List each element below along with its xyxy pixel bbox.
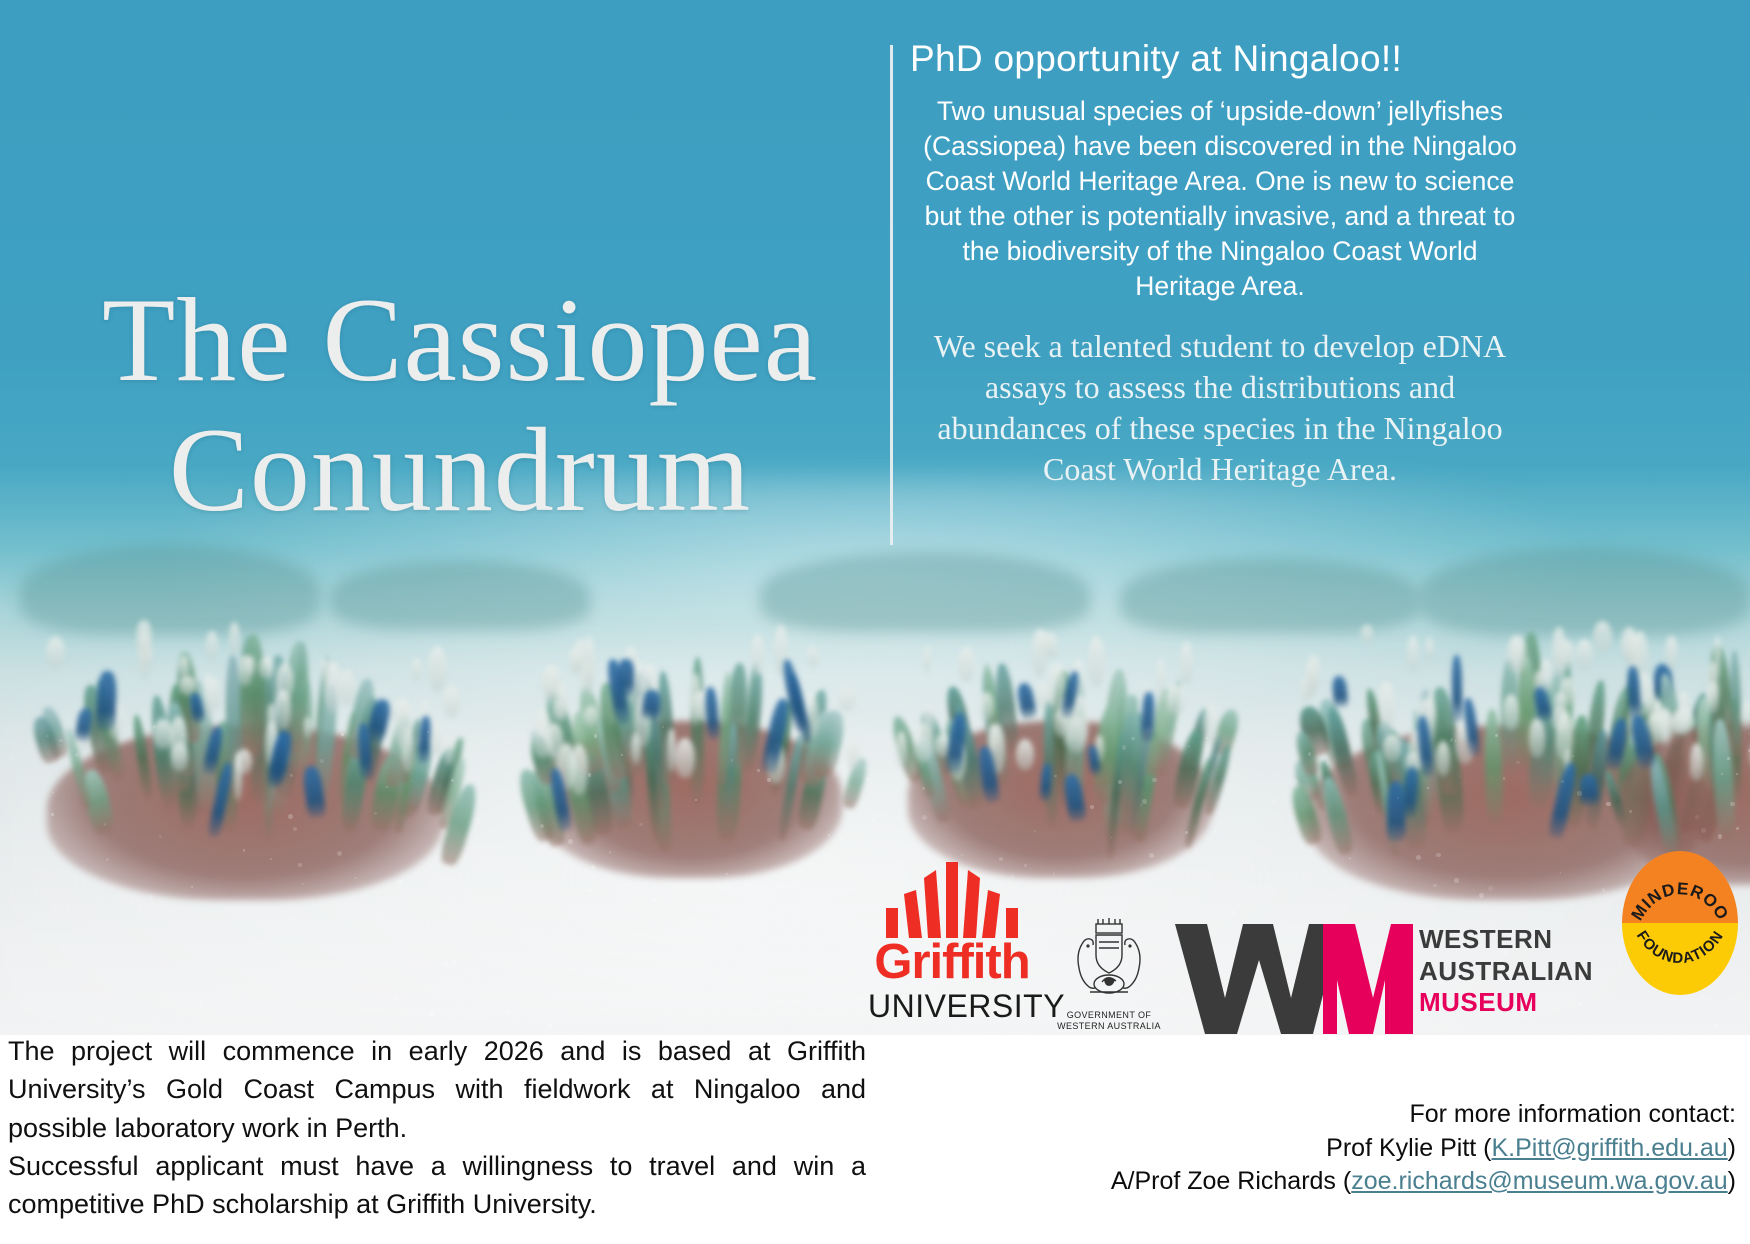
jellyfish-frill-tip (1576, 639, 1594, 670)
sand-fleck (1272, 799, 1276, 803)
sand-fleck (51, 813, 54, 816)
jellyfish-frill-tip (1556, 712, 1573, 761)
jellyfish-frill-tip (1552, 627, 1566, 676)
jellyfish-frill-tip (259, 657, 274, 679)
email-link-kylie-pitt[interactable]: K.Pitt@griffith.edu.au (1492, 1134, 1728, 1162)
sand-fleck (1206, 737, 1208, 739)
contact-block: For more information contact: Prof Kylie… (976, 1098, 1736, 1199)
jellyfish-frill-tip (206, 631, 218, 660)
poster-canvas: The Cassiopea Conundrum PhD opportunity … (0, 0, 1750, 1244)
sand-fleck (114, 938, 116, 940)
sand-fleck (1450, 738, 1453, 741)
project-line-5: competitive PhD scholarship at Griffith … (8, 1185, 866, 1223)
sand-fleck (52, 792, 54, 794)
sand-fleck (191, 886, 193, 888)
jellyfish-frill-tip (838, 687, 856, 711)
jellyfish-frill-tip (1361, 625, 1373, 644)
jellyfish-frill-tip (1690, 743, 1702, 781)
sand-fleck (1188, 746, 1189, 747)
sand-fleck (149, 895, 153, 899)
jellyfish-frill-tip (923, 646, 932, 672)
jellyfish-blue-arm (1141, 691, 1156, 741)
jellyfish-frill-tip (1503, 694, 1519, 731)
sand-fleck (1516, 761, 1519, 764)
sand-fleck (509, 750, 511, 752)
jellyfish-frill-tip (1016, 739, 1034, 770)
vertical-divider (890, 45, 893, 545)
sand-fleck (501, 962, 505, 966)
jellyfish-frill-tip (1665, 636, 1677, 670)
jellyfish-frill-tip (1032, 629, 1046, 677)
sand-fleck (1327, 762, 1330, 765)
sand-fleck (1115, 858, 1116, 859)
jellyfish-frill-tip (1436, 741, 1450, 776)
sand-fleck (606, 887, 608, 889)
sand-fleck (288, 814, 293, 819)
jellyfish-frill-tip (430, 723, 442, 756)
opportunity-heading: PhD opportunity at Ningaloo!! (910, 38, 1530, 80)
jellyfish-frill-tip (1088, 636, 1106, 687)
logo-band: Griffith UNIVERSITY (868, 860, 1748, 1045)
opportunity-call-to-action: We seek a talented student to develop eD… (910, 326, 1530, 490)
wa-government-logo: GOVERNMENT OF WESTERN AUSTRALIA (1054, 918, 1164, 1043)
jellyfish-frill-tip (1507, 635, 1528, 674)
sand-fleck (1577, 791, 1581, 795)
contact-person-1-close: ) (1728, 1134, 1736, 1162)
sand-fleck (1118, 780, 1121, 783)
sand-fleck (609, 851, 611, 853)
sand-fleck (470, 991, 475, 996)
jellyfish-frill-tip (1742, 701, 1750, 729)
sand-fleck (1176, 724, 1178, 726)
jellyfish-frill-tip (1529, 718, 1545, 757)
jellyfish-frill-tip (1660, 711, 1672, 745)
jellyfish-blue-arm (642, 689, 661, 719)
sand-fleck (1149, 853, 1154, 858)
wam-line-1: WESTERN (1419, 924, 1603, 956)
sand-fleck (1140, 804, 1142, 806)
sand-fleck (1727, 757, 1730, 760)
sand-fleck (452, 960, 456, 964)
page-title: The Cassiopea Conundrum (40, 275, 880, 534)
jellyfish-tentacle (242, 634, 265, 754)
wam-wordmark: WESTERN AUSTRALIAN MUSEUM (1419, 924, 1603, 1019)
jellyfish-frill-tip (675, 738, 694, 779)
sand-fleck (470, 894, 472, 896)
jellyfish-frill-tip (1407, 636, 1418, 672)
project-line-2: University’s Gold Coast Campus with fiel… (8, 1070, 866, 1108)
jellyfish-frill-tip (170, 716, 187, 762)
jellyfish-blue-arm (1452, 655, 1463, 722)
sand-fleck (1718, 834, 1722, 838)
sand-fleck (371, 916, 373, 918)
sand-fleck (426, 970, 429, 973)
minderoo-foundation-logo: MINDEROO FOUNDATION (1620, 848, 1740, 998)
sand-fleck (1152, 778, 1157, 783)
jellyfish-frill-tip (533, 710, 552, 758)
sand-fleck (131, 901, 133, 903)
jellyfish-frill-tip (1180, 642, 1192, 684)
jellyfish-frill-tip (1203, 704, 1218, 744)
jellyfish-frill-tip (136, 620, 153, 655)
sand-fleck (540, 824, 544, 828)
jellyfish-cluster (1610, 605, 1750, 885)
sand-fleck (662, 726, 664, 728)
jellyfish-frill-tip (1157, 658, 1164, 703)
sand-fleck (153, 725, 156, 728)
jellyfish-frill-tip (1167, 685, 1185, 715)
sand-fleck (594, 734, 597, 737)
sand-fleck (1212, 771, 1213, 772)
sand-fleck (731, 759, 733, 761)
project-line-1: The project will commence in early 2026 … (8, 1032, 866, 1070)
wa-government-caption: GOVERNMENT OF WESTERN AUSTRALIA (1054, 1010, 1164, 1033)
jellyfish-frill-tip (896, 731, 907, 767)
contact-person-1: Prof Kylie Pitt (K.Pitt@griffith.edu.au) (976, 1132, 1736, 1166)
sand-fleck (444, 962, 447, 965)
jellyfish-blue-arm (96, 671, 117, 730)
sand-fleck (872, 818, 875, 821)
jellyfish-frill-tip (267, 703, 275, 738)
sand-fleck (249, 913, 251, 915)
sand-fleck (110, 886, 111, 887)
contact-person-2: A/Prof Zoe Richards (zoe.richards@museum… (976, 1165, 1736, 1199)
sand-fleck (386, 786, 388, 788)
jellyfish-frill-tip (395, 698, 412, 749)
sand-fleck (337, 851, 342, 856)
jellyfish-frill-tip (751, 634, 764, 677)
opportunity-description: Two unusual species of ‘upside-down’ jel… (910, 94, 1530, 304)
sand-fleck (666, 915, 668, 917)
sand-fleck (298, 863, 301, 866)
sand-fleck (568, 839, 573, 844)
jellyfish-frill-tip (807, 646, 819, 667)
jellyfish-frill-tip (229, 622, 240, 655)
jellyfish-blue-arm (1016, 682, 1037, 719)
contact-person-1-name: Prof Kylie Pitt ( (1326, 1134, 1491, 1162)
footer-band: The project will commence in early 2026 … (0, 1035, 1750, 1244)
contact-person-2-close: ) (1728, 1167, 1736, 1195)
sand-fleck (243, 849, 246, 852)
sand-fleck (833, 1014, 836, 1017)
minderoo-badge-icon: MINDEROO FOUNDATION (1620, 848, 1740, 998)
sand-fleck (508, 1025, 511, 1028)
sand-fleck (922, 787, 925, 790)
jellyfish-frill-tip (1621, 627, 1639, 662)
griffith-university-logo: Griffith UNIVERSITY (868, 860, 1036, 1045)
jellyfish-frill-tip (320, 658, 329, 681)
jellyfish-frill-tip (275, 689, 291, 730)
sand-fleck (270, 858, 272, 860)
jellyfish-frill-tip (339, 670, 355, 706)
sand-fleck (588, 773, 592, 777)
griffith-flame-icon (878, 860, 1026, 938)
wa-gov-line-2: WESTERN AUSTRALIA (1054, 1021, 1164, 1032)
sand-fleck (590, 964, 592, 966)
contact-heading: For more information contact: (976, 1098, 1736, 1132)
sand-fleck (489, 930, 492, 933)
sand-fleck (1034, 830, 1036, 832)
sand-fleck (1730, 802, 1734, 806)
jellyfish-cluster (525, 608, 855, 878)
sand-fleck (477, 818, 480, 821)
jellyfish-cluster (895, 608, 1225, 878)
jellyfish-frill-tip (234, 752, 243, 801)
sand-fleck (1142, 799, 1147, 804)
griffith-university-word: UNIVERSITY (868, 988, 1036, 1025)
project-line-4: Successful applicant must have a willing… (8, 1147, 866, 1185)
sand-fleck (1561, 780, 1564, 783)
wa-gov-line-1: GOVERNMENT OF (1054, 1010, 1164, 1021)
jellyfish-frill-tip (179, 676, 196, 695)
project-line-3: possible laboratory work in Perth. (8, 1109, 866, 1147)
jellyfish-frill-tip (556, 683, 567, 719)
western-australian-museum-logo: WESTERN AUSTRALIAN MUSEUM (1173, 918, 1603, 1043)
jellyfish-blue-arm (1387, 781, 1405, 841)
jellyfish-frill-tip (1378, 682, 1394, 732)
jellyfish-frill-tip (46, 637, 65, 667)
jellyfish-frill-tip (1425, 638, 1434, 659)
sand-fleck (767, 778, 771, 782)
sand-fleck (376, 890, 378, 892)
sand-fleck (876, 829, 877, 830)
sand-fleck (341, 733, 343, 735)
jellyfish-cluster (30, 600, 460, 900)
jellyfish-frill-tip (958, 647, 975, 681)
title-line-2: Conundrum (40, 405, 880, 535)
sand-fleck (50, 941, 53, 944)
email-link-zoe-richards[interactable]: zoe.richards@museum.wa.gov.au (1351, 1167, 1727, 1195)
sand-fleck (718, 943, 720, 945)
jellyfish-frill-tip (444, 736, 454, 765)
jellyfish-frill-tip (1306, 655, 1321, 692)
sand-fleck (106, 858, 109, 861)
sand-fleck (354, 877, 356, 879)
jellyfish-frill-tip (979, 692, 994, 722)
sand-fleck (75, 753, 78, 756)
sand-fleck (9, 755, 13, 759)
jellyfish-frill-tip (923, 703, 934, 735)
sand-fleck (1436, 853, 1441, 858)
griffith-wordmark: Griffith (868, 934, 1036, 990)
sand-fleck (915, 727, 916, 728)
project-details-text: The project will commence in early 2026 … (8, 1032, 866, 1224)
jellyfish-blue-arm (1331, 675, 1349, 708)
sand-fleck (922, 815, 927, 820)
sand-fleck (289, 917, 293, 921)
sand-fleck (1701, 828, 1706, 833)
sand-fleck (1214, 830, 1216, 832)
jellyfish-frill-tip (584, 636, 595, 688)
sand-fleck (1373, 811, 1374, 812)
sand-fleck (655, 997, 656, 998)
jellyfish-frill-tip (412, 658, 422, 680)
wam-line-3: MUSEUM (1419, 987, 1603, 1019)
sand-fleck (591, 865, 595, 869)
jellyfish-frill-tip (667, 728, 676, 772)
sand-fleck (374, 812, 376, 814)
jellyfish-frill-tip (690, 673, 701, 725)
contact-person-2-name: A/Prof Zoe Richards ( (1111, 1167, 1351, 1195)
jellyfish-frill-tip (570, 744, 588, 795)
title-line-1: The Cassiopea (40, 275, 880, 405)
jellyfish-frill-tip (428, 646, 447, 692)
sand-fleck (866, 778, 869, 781)
right-column: PhD opportunity at Ningaloo!! Two unusua… (910, 38, 1530, 490)
jellyfish-frill-tip (1046, 633, 1058, 659)
wam-monogram-icon (1173, 920, 1413, 1038)
jellyfish-frill-tip (239, 655, 252, 686)
jellyfish-frill-tip (847, 740, 859, 770)
wam-line-2: AUSTRALIAN (1419, 956, 1603, 988)
sand-fleck (6, 906, 8, 908)
jellyfish-frill-tip (1383, 734, 1400, 762)
sand-fleck (46, 735, 48, 737)
jellyfish-frill-tip (584, 706, 598, 726)
wa-government-crest-icon (1068, 918, 1150, 1010)
sand-fleck (828, 834, 830, 836)
jellyfish-frill-tip (443, 686, 460, 718)
jellyfish-frill-tip (1707, 681, 1720, 714)
jellyfish-frill-tip (1673, 707, 1693, 735)
sand-fleck (293, 827, 297, 831)
